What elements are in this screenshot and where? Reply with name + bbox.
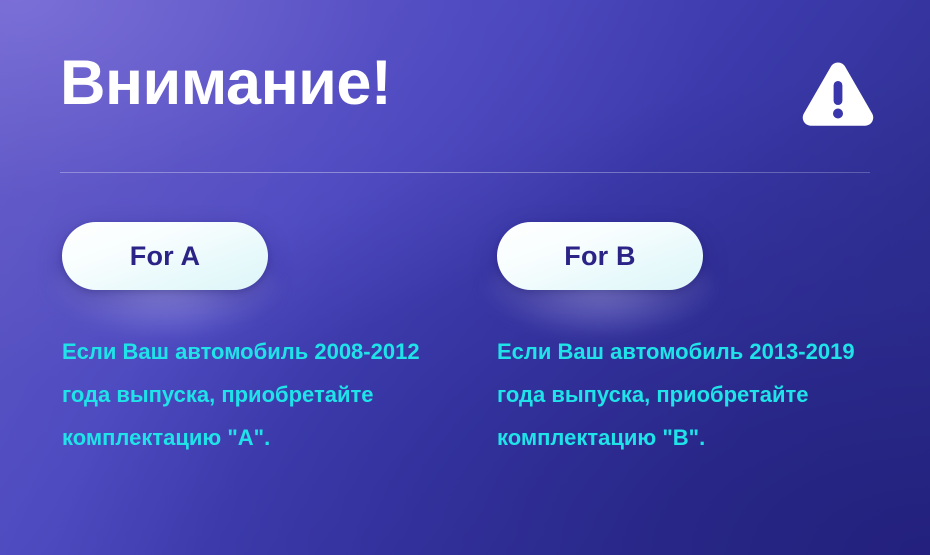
option-b-description: Если Ваш автомобиль 2013-2019 года выпус… [497, 330, 897, 459]
attention-banner: Внимание! For A Если Ваш автомобиль 2008… [0, 0, 930, 555]
option-a-description: Если Ваш автомобиль 2008-2012 года выпус… [62, 330, 462, 459]
header-divider [60, 172, 870, 173]
for-a-button-wrap: For A [62, 222, 268, 290]
for-a-button-label: For A [130, 241, 201, 272]
option-column-b: For B Если Ваш автомобиль 2013-2019 года… [497, 222, 917, 459]
for-b-button-label: For B [564, 241, 636, 272]
option-column-a: For A Если Ваш автомобиль 2008-2012 года… [62, 222, 482, 459]
for-b-button-wrap: For B [497, 222, 703, 290]
warning-triangle-icon [801, 60, 875, 128]
page-title: Внимание! [60, 52, 391, 115]
for-b-button[interactable]: For B [497, 222, 703, 290]
for-a-button[interactable]: For A [62, 222, 268, 290]
